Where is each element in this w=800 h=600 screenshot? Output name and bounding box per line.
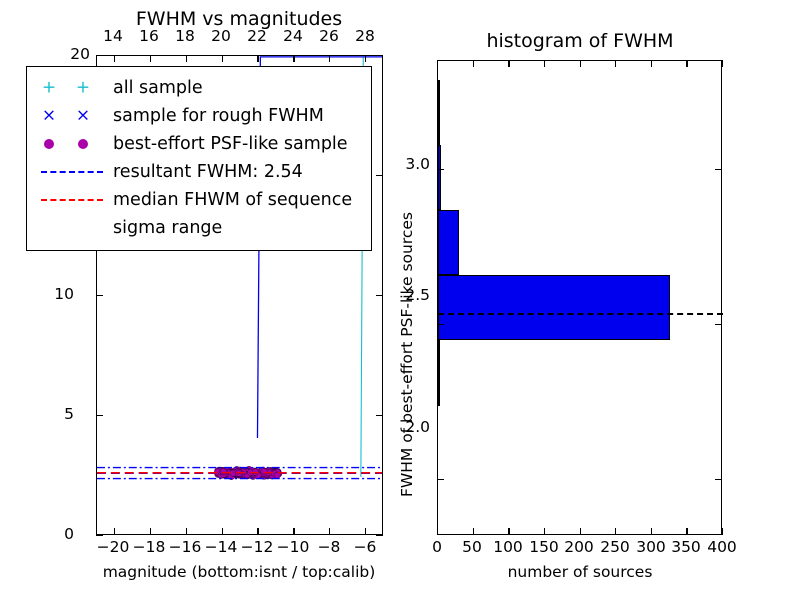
hist-xtick-top <box>508 60 509 67</box>
bottom-xtick-label-6: −8 <box>318 538 341 556</box>
dashed-line-icon <box>41 199 103 201</box>
top-xtick-label-6: 26 <box>319 27 339 45</box>
hist-xtick-label-6: 300 <box>636 538 666 556</box>
xtick-top <box>329 55 330 62</box>
left-plot-xlabel: magnitude (bottom:isnt / top:calib) <box>103 563 376 581</box>
right-plot-title: histogram of FWHM <box>486 30 673 52</box>
ytick-left <box>96 535 103 536</box>
cross-icon: × <box>42 108 56 125</box>
legend-label-psf-sample: best-effort PSF-like sample <box>113 133 348 155</box>
ytick-right <box>376 175 383 176</box>
circle-icon <box>44 139 54 149</box>
hist-xtick-bottom <box>686 528 687 535</box>
legend-key-psf-sample <box>35 133 113 155</box>
legend-label-resultant-fwhm: resultant FWHM: 2.54 <box>113 161 303 183</box>
hist-xtick-top <box>615 60 616 67</box>
ytick-left <box>96 295 103 296</box>
legend-key-resultant-fwhm <box>35 161 113 183</box>
top-xtick-label-0: 14 <box>103 27 123 45</box>
legend-box: + + all sample × × sample for rough FWHM… <box>26 66 372 251</box>
left-ytick-label-20: 20 <box>70 45 90 63</box>
left-plot-title: FWHM vs magnitudes <box>136 8 342 30</box>
bottom-xtick-label-5: −10 <box>277 538 310 556</box>
top-xtick-label-4: 22 <box>247 27 267 45</box>
cross-icon: × <box>76 108 90 125</box>
legend-label-sigma-range: sigma range <box>113 217 222 239</box>
xtick-bottom <box>257 528 258 535</box>
hist-ytick-right <box>715 324 722 325</box>
hist-ytick-label-3.0: 3.0 <box>405 155 430 173</box>
hist-xtick-label-8: 400 <box>707 538 737 556</box>
top-xtick-label-7: 28 <box>355 27 375 45</box>
legend-item-rough-fwhm: × × sample for rough FWHM <box>35 102 363 130</box>
hist-xtick-top <box>651 60 652 67</box>
left-ytick-label-0: 0 <box>64 525 74 543</box>
hist-ytick-label-2.5: 2.5 <box>405 286 430 304</box>
histogram-bar <box>438 145 441 210</box>
bottom-xtick-label-2: −16 <box>169 538 202 556</box>
legend-item-sigma-range: sigma range <box>35 214 363 242</box>
xtick-bottom <box>365 528 366 535</box>
histogram-bar <box>438 340 440 405</box>
hist-xtick-bottom <box>437 528 438 535</box>
xtick-bottom <box>222 528 223 535</box>
hist-xtick-top <box>437 60 438 67</box>
hist-xtick-bottom <box>722 528 723 535</box>
hist-xtick-label-7: 350 <box>671 538 701 556</box>
figure-canvas: FWHM vs magnitudes FWHM (pix) magnitude … <box>0 0 800 600</box>
top-xtick-label-2: 18 <box>175 27 195 45</box>
legend-label-rough-fwhm: sample for rough FWHM <box>113 105 324 127</box>
xtick-top <box>150 55 151 62</box>
hist-xtick-bottom <box>615 528 616 535</box>
xtick-bottom <box>150 528 151 535</box>
ytick-left <box>96 415 103 416</box>
right-plot-ylabel: FWHM of best-effort PSF-like sources <box>398 212 416 497</box>
hist-xtick-top <box>722 60 723 67</box>
xtick-bottom <box>329 528 330 535</box>
hist-xtick-label-3: 150 <box>529 538 559 556</box>
legend-item-resultant-fwhm: resultant FWHM: 2.54 <box>35 158 363 186</box>
ytick-right <box>376 295 383 296</box>
hist-ytick-left <box>437 479 444 480</box>
top-xtick-label-1: 16 <box>139 27 159 45</box>
left-ytick-label-10: 10 <box>54 285 74 303</box>
bottom-xtick-label-7: −6 <box>354 538 377 556</box>
legend-item-all-sample: + + all sample <box>35 74 363 102</box>
bottom-xtick-label-1: −18 <box>133 538 166 556</box>
hist-ytick-left <box>437 324 444 325</box>
circle-icon <box>78 139 88 149</box>
xtick-top <box>186 55 187 62</box>
hist-xtick-bottom <box>580 528 581 535</box>
xtick-top <box>293 55 294 62</box>
plus-icon: + <box>42 80 56 97</box>
histogram-bar <box>438 275 670 340</box>
hist-xtick-top <box>686 60 687 67</box>
legend-key-sigma-range <box>35 217 113 239</box>
bottom-xtick-label-3: −14 <box>205 538 238 556</box>
hist-xtick-label-1: 50 <box>462 538 482 556</box>
legend-key-all-sample: + + <box>35 77 113 99</box>
hist-ytick-left <box>437 169 444 170</box>
hist-xtick-label-0: 0 <box>432 538 442 556</box>
plus-icon: + <box>76 80 90 97</box>
xtick-top <box>114 55 115 62</box>
hist-xtick-bottom <box>508 528 509 535</box>
legend-key-rough-fwhm: × × <box>35 105 113 127</box>
hist-xtick-top <box>580 60 581 67</box>
hist-xtick-bottom <box>473 528 474 535</box>
hist-xtick-label-2: 100 <box>493 538 523 556</box>
xtick-top <box>222 55 223 62</box>
hist-xtick-label-5: 250 <box>600 538 630 556</box>
legend-label-all-sample: all sample <box>113 77 203 99</box>
legend-label-median-fwhm: median FHWM of sequence <box>113 189 352 211</box>
legend-key-median-fwhm <box>35 189 113 211</box>
histogram-median-line <box>438 313 723 315</box>
hist-xtick-top <box>544 60 545 67</box>
bottom-xtick-label-0: −20 <box>97 538 130 556</box>
ytick-right <box>376 415 383 416</box>
legend-item-psf-sample: best-effort PSF-like sample <box>35 130 363 158</box>
hist-xtick-top <box>473 60 474 67</box>
hist-ytick-label-2.0: 2.0 <box>405 418 430 436</box>
histogram-bar <box>438 80 440 145</box>
top-xtick-label-5: 24 <box>283 27 303 45</box>
xtick-bottom <box>114 528 115 535</box>
top-xtick-label-3: 20 <box>211 27 231 45</box>
histogram-plot-area <box>437 60 722 535</box>
hist-ytick-right <box>715 169 722 170</box>
dashed-line-icon <box>41 171 103 173</box>
ytick-right <box>376 535 383 536</box>
xtick-top <box>257 55 258 62</box>
xtick-bottom <box>293 528 294 535</box>
legend-item-median-fwhm: median FHWM of sequence <box>35 186 363 214</box>
histogram-bar <box>438 210 459 275</box>
bottom-xtick-label-4: −12 <box>241 538 274 556</box>
xtick-top <box>365 55 366 62</box>
right-plot-xlabel: number of sources <box>508 563 653 581</box>
hist-xtick-bottom <box>544 528 545 535</box>
xtick-bottom <box>186 528 187 535</box>
hist-ytick-right <box>715 479 722 480</box>
hist-xtick-label-4: 200 <box>564 538 594 556</box>
hist-xtick-bottom <box>651 528 652 535</box>
left-ytick-label-5: 5 <box>64 405 74 423</box>
